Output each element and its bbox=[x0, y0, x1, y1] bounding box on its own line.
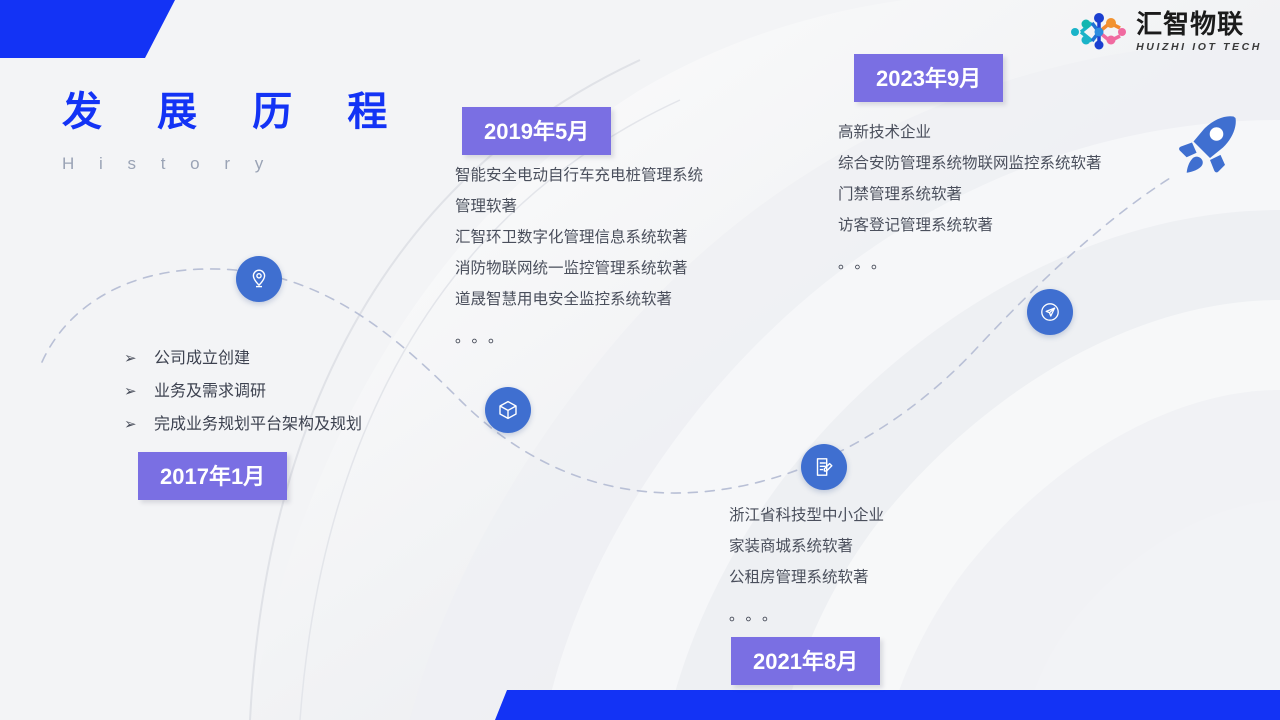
milestone-text-2021: 浙江省科技型中小企业 家装商城系统软著 公租房管理系统软著 。。。 bbox=[729, 500, 884, 631]
milestone-list-2017: ➢公司成立创建 ➢业务及需求调研 ➢完成业务规划平台架构及规划 bbox=[124, 342, 362, 441]
milestone-line: 浙江省科技型中小企业 bbox=[729, 500, 884, 531]
milestone-line: 访客登记管理系统软著 bbox=[838, 210, 1102, 241]
milestone-node-2017[interactable] bbox=[236, 256, 282, 302]
page-title: 发 展 历 程 H i s t o r y bbox=[62, 92, 409, 174]
list-item: ➢业务及需求调研 bbox=[124, 375, 362, 408]
milestone-line: 公租房管理系统软著 bbox=[729, 562, 884, 593]
cube-icon bbox=[496, 398, 520, 422]
bullet-arrow-icon: ➢ bbox=[124, 408, 154, 441]
logo-company-name-cn: 汇智物联 bbox=[1136, 11, 1262, 37]
paper-plane-icon bbox=[1037, 299, 1063, 325]
milestone-line: 道晟智慧用电安全监控系统软著 bbox=[455, 284, 703, 315]
list-item: ➢完成业务规划平台架构及规划 bbox=[124, 408, 362, 441]
location-pin-icon bbox=[247, 267, 271, 291]
milestone-text-2019: 智能安全电动自行车充电桩管理系统 管理软著 汇智环卫数字化管理信息系统软著 消防… bbox=[455, 160, 703, 353]
list-item-label: 公司成立创建 bbox=[154, 350, 250, 367]
list-item-label: 业务及需求调研 bbox=[154, 383, 266, 400]
milestone-node-2019[interactable] bbox=[485, 387, 531, 433]
ellipsis-dots: 。。。 bbox=[729, 600, 884, 631]
document-edit-icon bbox=[812, 455, 836, 479]
list-item: ➢公司成立创建 bbox=[124, 342, 362, 375]
logo-company-name-en: HUIZHI IOT TECH bbox=[1136, 42, 1262, 53]
title-en: H i s t o r y bbox=[62, 154, 409, 174]
milestone-line: 汇智环卫数字化管理信息系统软著 bbox=[455, 222, 703, 253]
milestone-line: 综合安防管理系统物联网监控系统软著 bbox=[838, 148, 1102, 179]
milestone-badge-2021[interactable]: 2021年8月 bbox=[731, 637, 880, 685]
milestone-line: 家装商城系统软著 bbox=[729, 531, 884, 562]
rocket-icon bbox=[1163, 108, 1249, 194]
bullet-arrow-icon: ➢ bbox=[124, 375, 154, 408]
milestone-line: 消防物联网统一监控管理系统软著 bbox=[455, 253, 703, 284]
bullet-arrow-icon: ➢ bbox=[124, 342, 154, 375]
milestone-line: 智能安全电动自行车充电桩管理系统 bbox=[455, 160, 703, 191]
ellipsis-dots: 。。。 bbox=[838, 248, 1102, 279]
milestone-badge-2023[interactable]: 2023年9月 bbox=[854, 54, 1003, 102]
milestone-line: 管理软著 bbox=[455, 191, 703, 222]
molecule-network-icon bbox=[1070, 10, 1128, 54]
milestone-node-2021[interactable] bbox=[801, 444, 847, 490]
milestone-badge-2019[interactable]: 2019年5月 bbox=[462, 107, 611, 155]
milestone-line: 高新技术企业 bbox=[838, 117, 1102, 148]
company-logo: 汇智物联 HUIZHI IOT TECH bbox=[1070, 10, 1262, 54]
slide-canvas: 汇智物联 HUIZHI IOT TECH 发 展 历 程 H i s t o r… bbox=[0, 0, 1280, 720]
milestone-text-2023: 高新技术企业 综合安防管理系统物联网监控系统软著 门禁管理系统软著 访客登记管理… bbox=[838, 117, 1102, 279]
milestone-line: 门禁管理系统软著 bbox=[838, 179, 1102, 210]
milestone-node-2023[interactable] bbox=[1027, 289, 1073, 335]
ellipsis-dots: 。。。 bbox=[455, 322, 703, 353]
milestone-badge-2017[interactable]: 2017年1月 bbox=[138, 452, 287, 500]
title-cn: 发 展 历 程 bbox=[62, 92, 409, 132]
list-item-label: 完成业务规划平台架构及规划 bbox=[154, 416, 362, 433]
